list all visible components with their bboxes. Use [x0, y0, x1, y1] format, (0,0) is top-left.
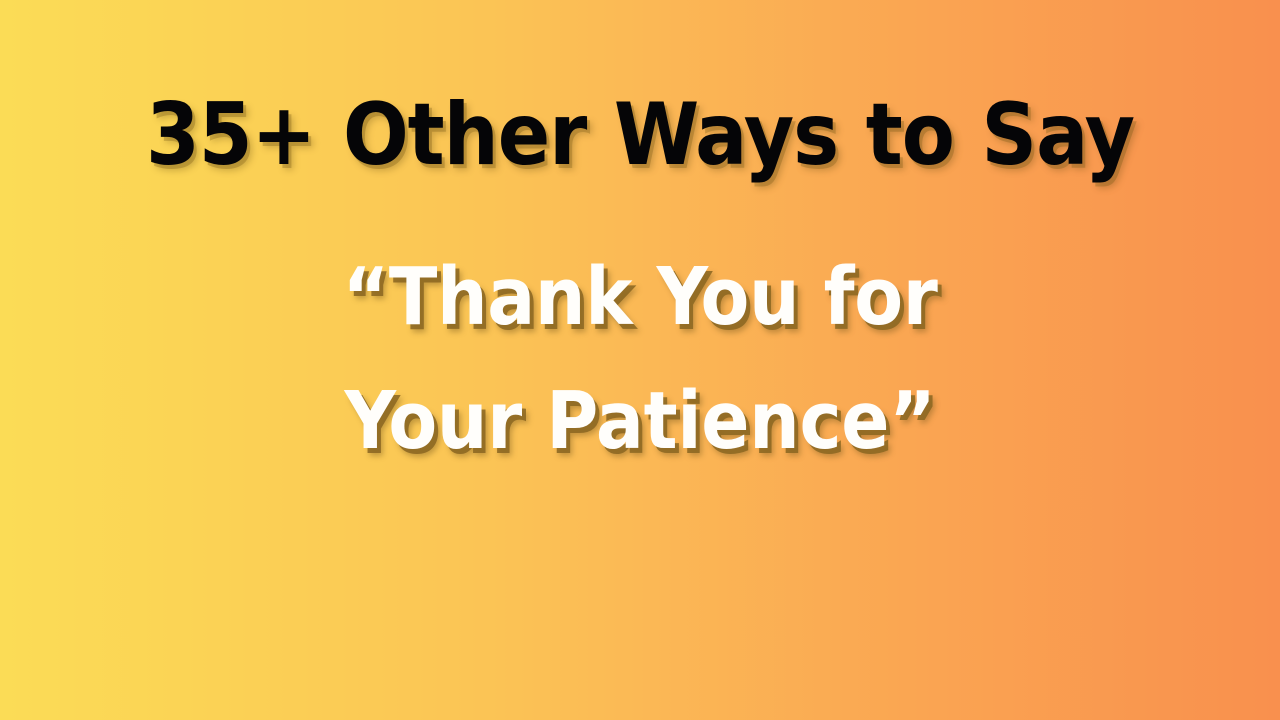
headline-title: 35+ Other Ways to Say — [135, 78, 1145, 192]
title-slide: 35+ Other Ways to Say “Thank You for You… — [0, 0, 1280, 720]
subtitle-quote: “Thank You for Your Patience” — [245, 236, 1035, 482]
